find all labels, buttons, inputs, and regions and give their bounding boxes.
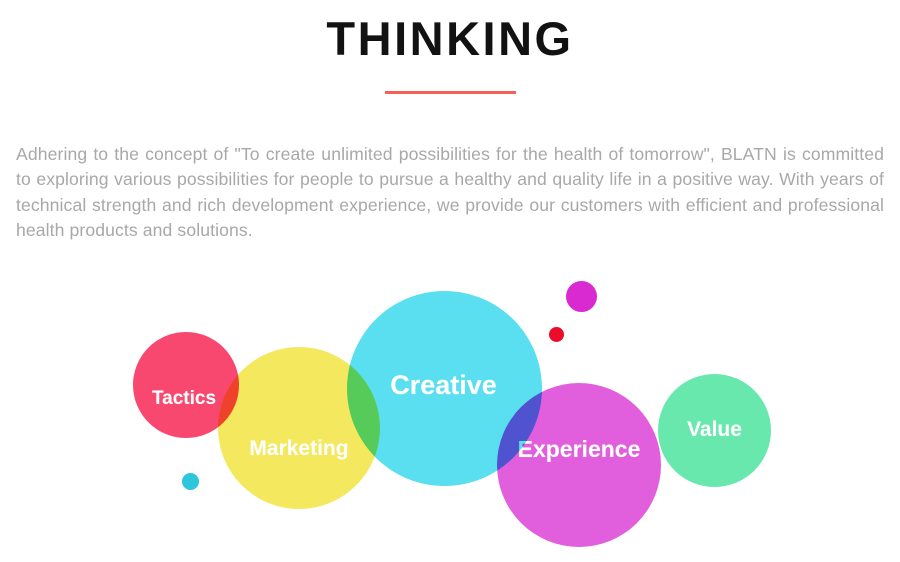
bubble-diagram: Tactics Marketing Creative Experience Va… (0, 0, 900, 562)
bubble-marketing-label: Marketing (249, 437, 348, 461)
red-dot-icon (549, 327, 564, 342)
cyan-dot-icon (182, 473, 199, 490)
bubble-value[interactable]: Value (658, 374, 771, 487)
bubble-value-label: Value (687, 418, 742, 442)
thinking-section: THINKING Adhering to the concept of "To … (0, 0, 900, 562)
bubble-experience-label: Experience (518, 436, 641, 463)
bubble-experience[interactable]: Experience (497, 383, 661, 547)
magenta-dot-icon (566, 281, 597, 312)
bubble-creative-label: Creative (390, 370, 497, 401)
bubble-tactics-label: Tactics (152, 388, 216, 410)
